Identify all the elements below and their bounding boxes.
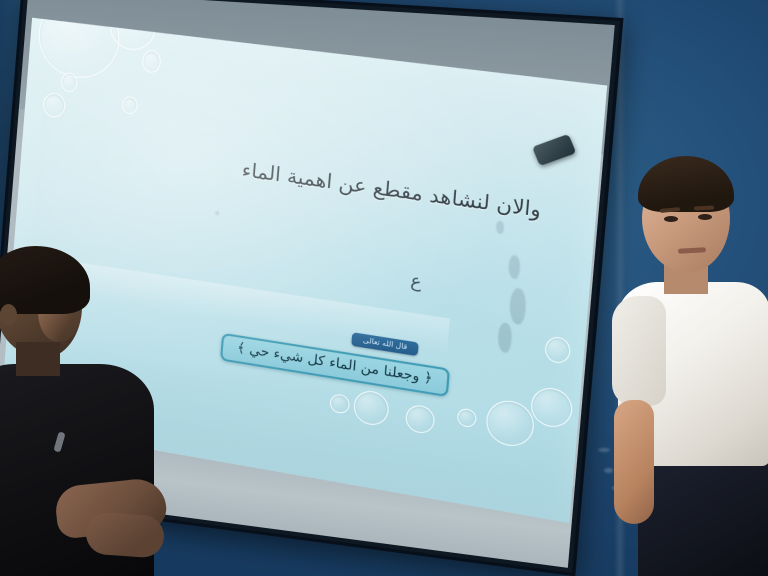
student-left-forearm xyxy=(85,511,166,558)
slide-title: والان لنشاهد مقطع عن اهمية الماء xyxy=(241,159,542,222)
water-drop-icon xyxy=(122,96,139,115)
board-smudge xyxy=(215,211,220,216)
board-smudge xyxy=(508,287,527,325)
student-left-ear xyxy=(0,304,17,326)
board-smudge xyxy=(497,322,513,354)
student-left xyxy=(0,246,172,576)
student-right xyxy=(612,156,768,576)
wall-scuff-mark xyxy=(598,448,610,452)
student-right-hair xyxy=(638,156,734,212)
student-left-hair xyxy=(0,246,90,314)
student-right-eye-right xyxy=(698,214,712,220)
water-drop-icon xyxy=(141,49,161,74)
student-right-pants xyxy=(638,456,768,576)
water-drop-icon xyxy=(42,92,66,119)
board-smudge xyxy=(508,255,521,280)
water-drop-icon xyxy=(544,335,571,364)
student-left-neck xyxy=(16,342,60,376)
student-right-sleeve xyxy=(612,296,666,406)
slide-decorative-glyph: ع xyxy=(410,270,423,293)
student-right-eye-left xyxy=(664,216,678,222)
classroom-photo: والان لنشاهد مقطع عن اهمية الماء ع قال ا… xyxy=(0,0,768,576)
student-right-arm xyxy=(614,400,654,524)
board-smudge xyxy=(496,221,505,235)
